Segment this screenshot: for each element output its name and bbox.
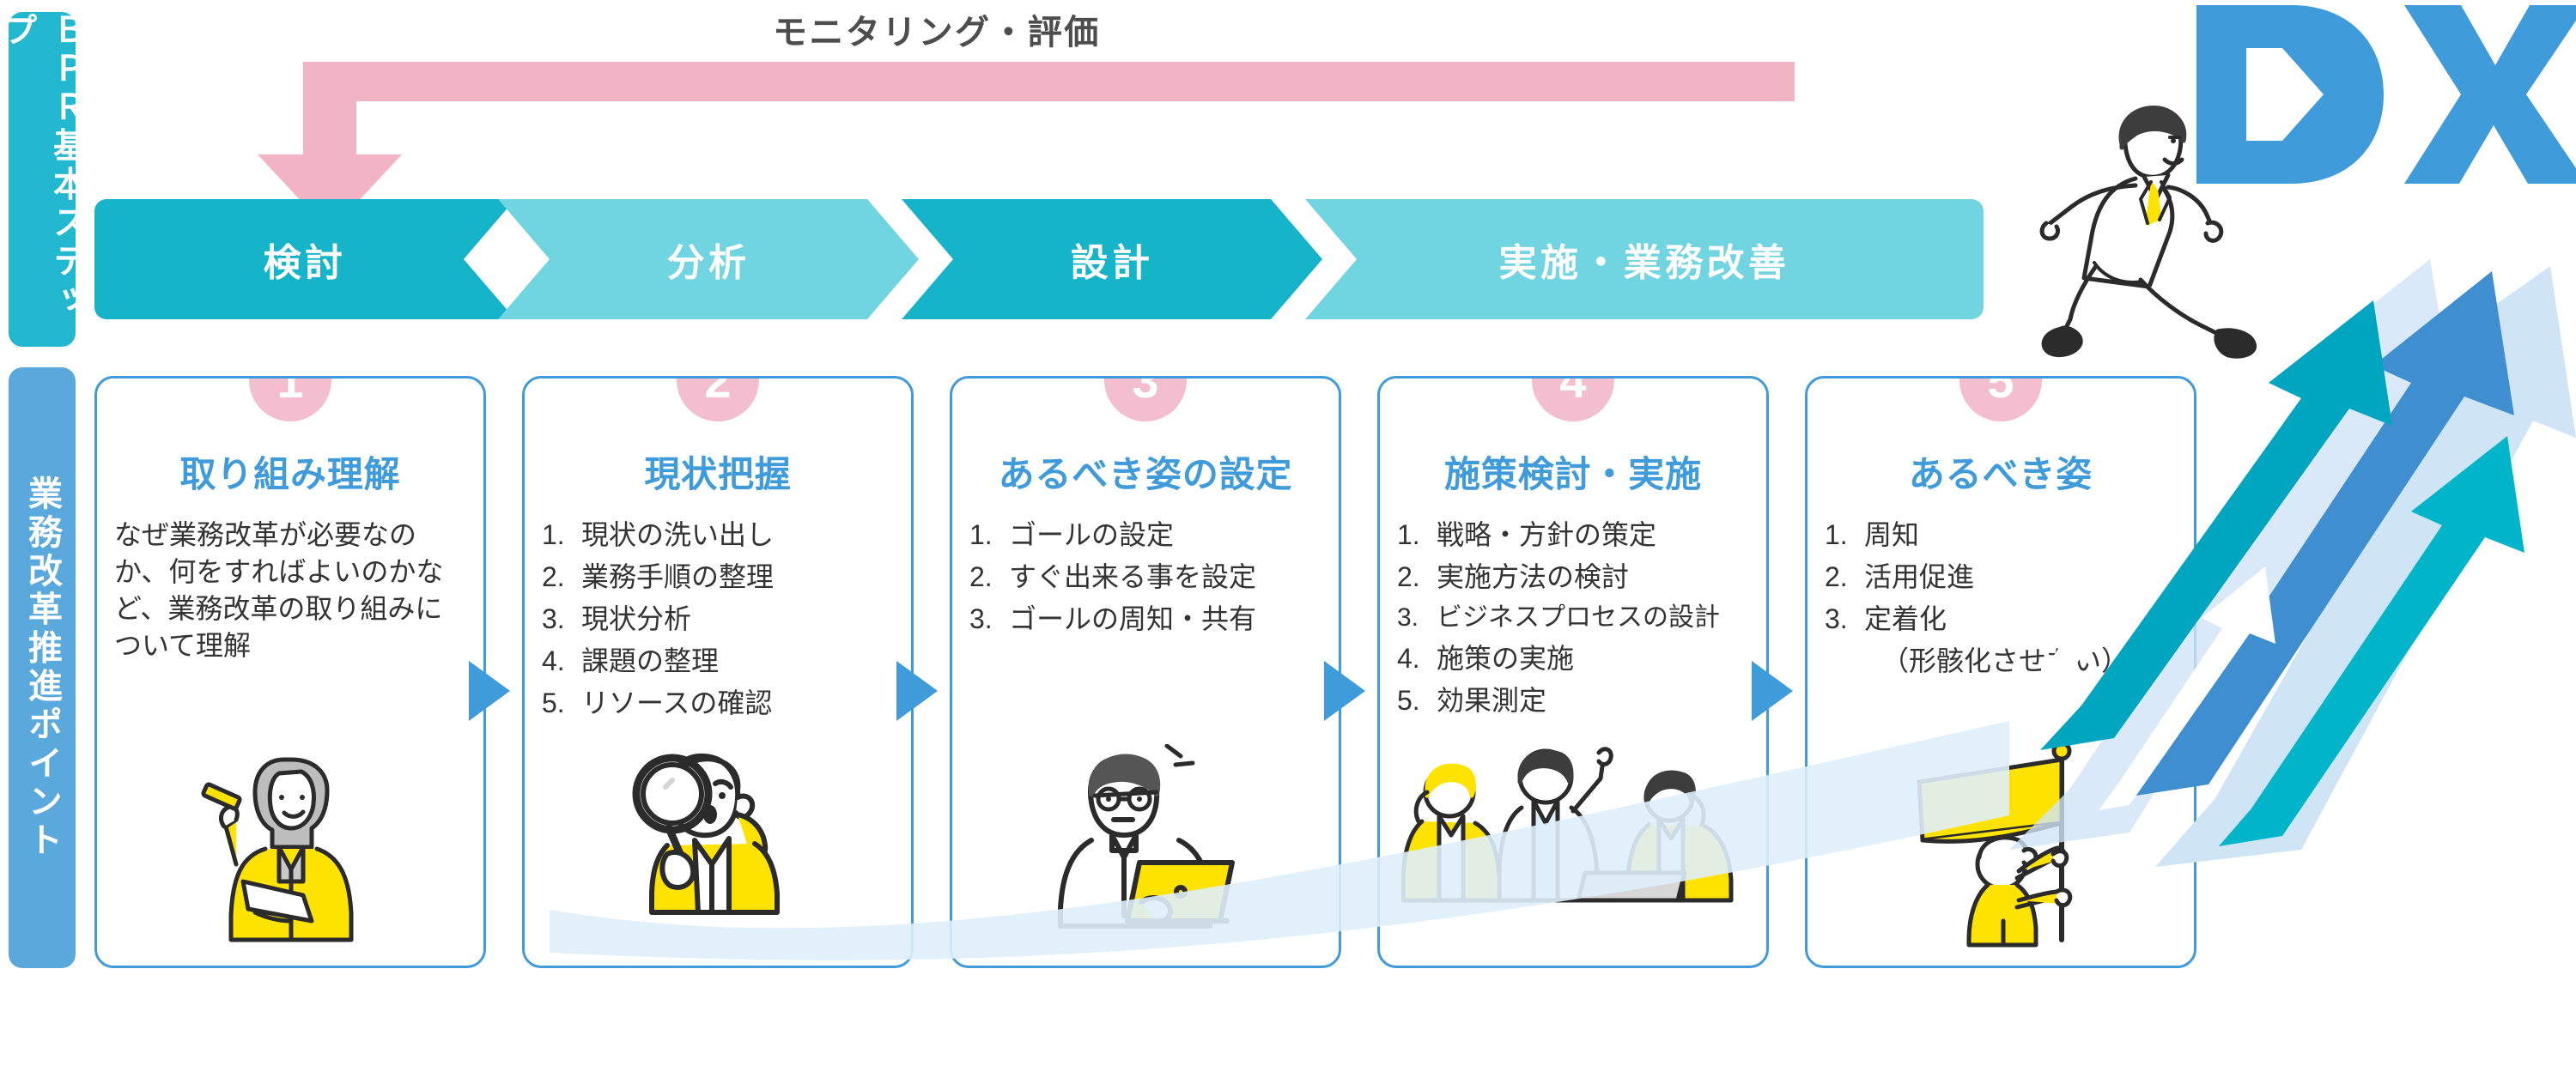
process-step-label-2: 分析 xyxy=(667,232,750,287)
list-item: 3.ビジネスプロセスの設計 xyxy=(1397,601,1753,635)
list-text: すぐ出来る事を設定 xyxy=(1009,561,1256,592)
list-text: 効果測定 xyxy=(1437,685,1546,716)
list-number: 2. xyxy=(1397,559,1420,596)
rail-bpr-text: ＢＰＲ基本ステップ xyxy=(0,12,92,347)
process-step-kento[interactable]: 検討 xyxy=(94,199,515,319)
step-card-body-2: 1.現状の洗い出し 2.業務手順の整理 3.現状分析 4.課題の整理 5.リソー… xyxy=(542,517,897,721)
list-text: ビジネスプロセスの設計 xyxy=(1437,603,1720,632)
list-text: 戦略・方針の策定 xyxy=(1437,519,1656,550)
list-item: 4.課題の整理 xyxy=(542,643,897,680)
list-item: 1.ゴールの設定 xyxy=(969,517,1325,554)
monitoring-label: モニタリング・評価 xyxy=(773,4,1101,54)
list-item: 1.現状の洗い出し xyxy=(542,517,897,554)
list-item: 2.実施方法の検討 xyxy=(1397,559,1753,596)
list-number: 3. xyxy=(1825,601,1848,638)
step-card-1[interactable]: 1 取り組み理解 なぜ業務改革が必要なのか、何をすればよいのかなど、業務改革の取… xyxy=(94,376,486,968)
list-text: 実施方法の検討 xyxy=(1437,561,1629,592)
list-number: 2. xyxy=(969,559,993,596)
list-item: 4.施策の実施 xyxy=(1397,640,1753,677)
step-card-title-3: あるべき姿の設定 xyxy=(952,445,1339,498)
list-item: 2.すぐ出来る事を設定 xyxy=(969,559,1325,596)
list-text: ゴールの設定 xyxy=(1009,519,1174,550)
list-item: 3.現状分析 xyxy=(542,601,897,638)
list-text: ゴールの周知・共有 xyxy=(1009,603,1256,634)
list-number: 1. xyxy=(542,517,565,554)
step-card-body-1: なぜ業務改革が必要なのか、何をすればよいのかなど、業務改革の取り組みについて理解 xyxy=(114,517,470,664)
list-number: 2. xyxy=(542,559,565,596)
step-badge-3: 3 xyxy=(1104,376,1187,421)
list-number: 2. xyxy=(1825,559,1848,596)
list-text: 施策の実施 xyxy=(1437,643,1574,674)
step-card-list-3: 1.ゴールの設定 2.すぐ出来る事を設定 3.ゴールの周知・共有 xyxy=(969,517,1325,638)
step-badge-4: 4 xyxy=(1532,376,1614,421)
process-step-bunseki[interactable]: 分析 xyxy=(498,199,919,319)
process-step-label-3: 設計 xyxy=(1071,232,1154,287)
list-number: 3. xyxy=(542,601,565,638)
step-card-body-4: 1.戦略・方針の策定 2.実施方法の検討 3.ビジネスプロセスの設計 4.施策の… xyxy=(1397,517,1753,719)
list-number: 4. xyxy=(1397,640,1420,677)
illustration-woman-with-pen xyxy=(97,744,483,959)
process-step-label-1: 検討 xyxy=(264,232,347,287)
card-connector-1-2 xyxy=(469,661,510,721)
running-businessman xyxy=(2039,103,2323,360)
step-card-list-4: 1.戦略・方針の策定 2.実施方法の検討 3.ビジネスプロセスの設計 4.施策の… xyxy=(1397,517,1753,719)
list-text: 現状の洗い出し xyxy=(581,519,774,550)
step-card-paragraph-1: なぜ業務改革が必要なのか、何をすればよいのかなど、業務改革の取り組みについて理解 xyxy=(114,517,470,664)
rail-label-improvement-points: 業務改革推進ポイント xyxy=(9,367,76,968)
process-step-sekkei[interactable]: 設計 xyxy=(902,199,1322,319)
list-number: 1. xyxy=(969,517,993,554)
list-number: 1. xyxy=(1397,517,1420,554)
step-badge-2: 2 xyxy=(677,376,759,421)
list-text: 現状分析 xyxy=(581,603,691,634)
rail-points-text: 業務改革推進ポイント xyxy=(17,475,67,860)
process-step-label-4: 実施・業務改善 xyxy=(1499,232,1790,287)
step-card-title-4: 施策検討・実施 xyxy=(1380,445,1766,498)
list-text: 業務手順の整理 xyxy=(581,561,774,592)
list-number: 4. xyxy=(542,643,565,680)
diagram-canvas: ＢＰＲ基本ステップ 業務改革推進ポイント モニタリング・評価 検討 分析 設計 … xyxy=(0,0,2576,1078)
step-card-title-2: 現状把握 xyxy=(525,445,911,498)
background-swoosh xyxy=(550,712,2009,970)
process-step-bar: 検討 分析 設計 実施・業務改善 xyxy=(94,199,1984,319)
list-item: 2.業務手順の整理 xyxy=(542,559,897,596)
list-number: 3. xyxy=(1397,601,1419,635)
step-card-body-3: 1.ゴールの設定 2.すぐ出来る事を設定 3.ゴールの周知・共有 xyxy=(969,517,1325,638)
list-number: 1. xyxy=(1825,517,1848,554)
step-card-list-2: 1.現状の洗い出し 2.業務手順の整理 3.現状分析 4.課題の整理 5.リソー… xyxy=(542,517,897,721)
step-badge-1: 1 xyxy=(249,376,331,421)
step-card-title-1: 取り組み理解 xyxy=(97,445,483,498)
rail-label-bpr: ＢＰＲ基本ステップ xyxy=(9,12,76,347)
list-item: 3.ゴールの周知・共有 xyxy=(969,601,1325,638)
list-text: 課題の整理 xyxy=(581,645,719,676)
list-item: 1.戦略・方針の策定 xyxy=(1397,517,1753,554)
list-number: 3. xyxy=(969,601,993,638)
